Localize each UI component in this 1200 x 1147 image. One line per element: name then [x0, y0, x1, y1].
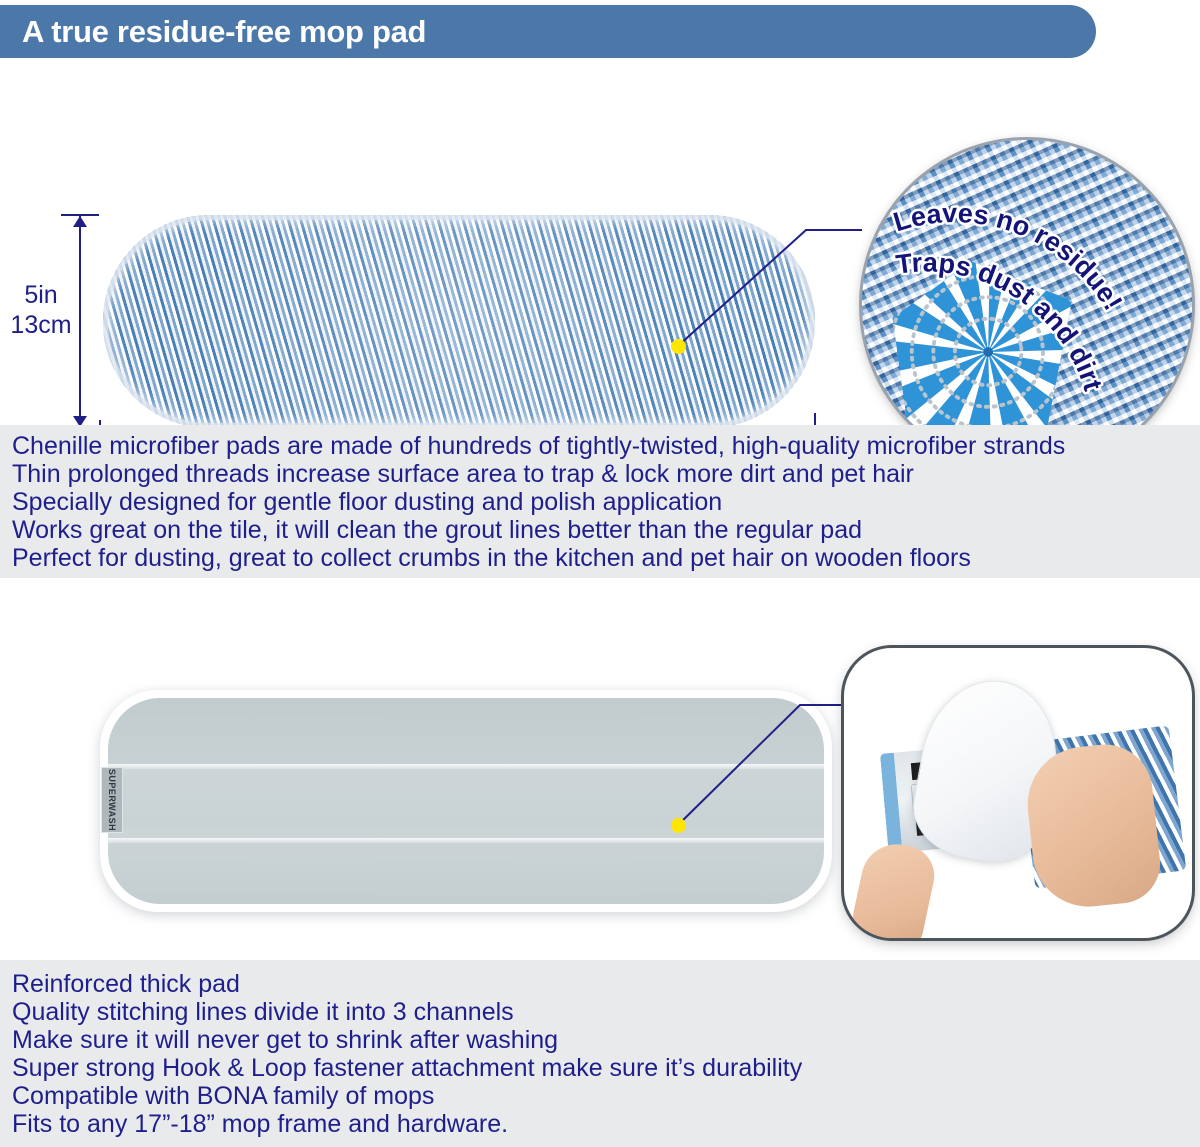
stitch-line [108, 838, 824, 843]
chenille-closeup-inset: Leaves no residue! Traps dust and dirt [862, 140, 1192, 470]
feature-item: Make sure it will never get to shrink af… [12, 1026, 1200, 1054]
feature-item: Chenille microfiber pads are made of hun… [12, 432, 1200, 460]
feature-item: Thin prolonged threads increase surface … [12, 460, 1200, 488]
flat-pad-surface [108, 698, 824, 904]
stitch-line [108, 764, 824, 769]
height-label-cm: 13cm [8, 310, 74, 340]
attachment-demo-inset [844, 648, 1192, 938]
chenille-callout-dot-icon [671, 339, 686, 354]
height-arrow-up-icon [73, 216, 87, 227]
superwash-tag-label: SUPERWASH [107, 769, 117, 831]
feature-item: Super strong Hook & Loop fastener attach… [12, 1054, 1200, 1082]
flat-mop-pad-image [100, 690, 832, 912]
height-dimension-line [79, 215, 81, 428]
section-chenille-pad: 5in 13cm 18in / 46cm [0, 58, 1200, 425]
superwash-brand-tag: SUPERWASH [101, 767, 123, 833]
page-title: A true residue-free mop pad [0, 14, 426, 50]
height-label-inches: 5in [8, 280, 74, 310]
chenille-feature-list: Chenille microfiber pads are made of hun… [0, 425, 1200, 578]
feature-item: Quality stitching lines divide it into 3… [12, 998, 1200, 1026]
product-infographic: A true residue-free mop pad 5in 13cm 18i… [0, 0, 1200, 1147]
feature-item: Works great on the tile, it will clean t… [12, 516, 1200, 544]
feature-item: Fits to any 17”-18” mop frame and hardwa… [12, 1110, 1200, 1138]
feature-item: Specially designed for gentle floor dust… [12, 488, 1200, 516]
hand-left-image [848, 838, 940, 938]
backing-callout-dot-icon [671, 818, 686, 833]
feature-item: Compatible with BONA family of mops [12, 1082, 1200, 1110]
height-dimension-label: 5in 13cm [8, 280, 74, 340]
feature-item: Reinforced thick pad [12, 970, 1200, 998]
inset-curved-captions: Leaves no residue! Traps dust and dirt [862, 140, 1192, 470]
backing-feature-list: Reinforced thick pad Quality stitching l… [0, 960, 1200, 1147]
feature-item: Perfect for dusting, great to collect cr… [12, 544, 1200, 572]
header-banner: A true residue-free mop pad [0, 5, 1096, 58]
chenille-mop-pad-image [103, 215, 815, 428]
